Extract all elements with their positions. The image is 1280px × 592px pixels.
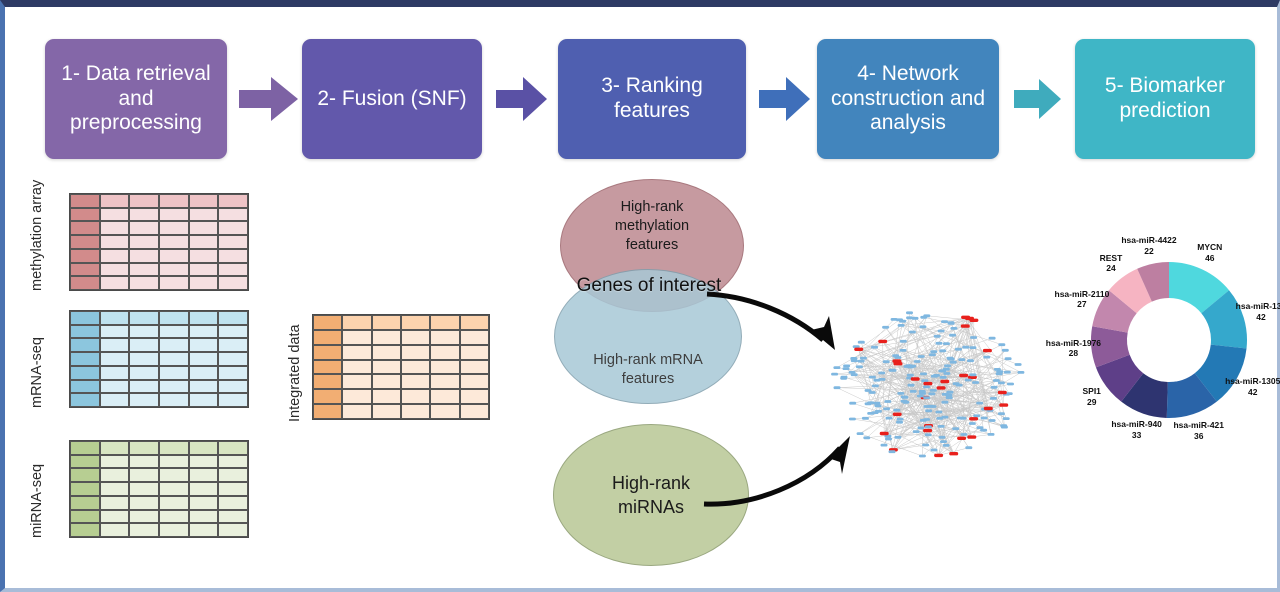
network-node — [955, 348, 962, 351]
network-node — [925, 409, 932, 412]
matrix-integrated-data-label: Integrated data — [287, 314, 303, 422]
network-node — [873, 402, 880, 405]
matrix-cell — [100, 221, 130, 235]
network-node — [925, 433, 932, 436]
matrix-cell — [70, 352, 100, 366]
network-node — [909, 331, 916, 334]
network-hub-node — [911, 377, 920, 380]
matrix-cell — [100, 338, 130, 352]
matrix-cell — [189, 523, 219, 537]
network-node — [893, 409, 900, 412]
matrix-cell — [70, 380, 100, 394]
network-node — [901, 400, 908, 403]
matrix-cell — [189, 311, 219, 325]
network-node — [930, 350, 937, 353]
matrix-cell — [100, 235, 130, 249]
network-node — [900, 349, 907, 352]
matrix-cell — [100, 441, 130, 455]
matrix-cell — [129, 393, 159, 407]
matrix-cell — [189, 393, 219, 407]
network-node — [948, 322, 955, 325]
matrix-cell — [129, 276, 159, 290]
network-node — [869, 376, 876, 379]
network-node — [994, 368, 1001, 371]
matrix-cell — [189, 380, 219, 394]
workflow-step-2-label: 2- Fusion (SNF) — [317, 87, 466, 112]
network-hub-node — [967, 435, 976, 438]
workflow-step-3-label: 3- Ranking features — [566, 74, 738, 124]
venn-circle-mrna-label: High-rank mRNA features — [593, 351, 703, 389]
network-hub-node — [949, 452, 958, 455]
network-node — [922, 444, 929, 447]
matrix-cell — [159, 221, 189, 235]
matrix-cell — [460, 374, 489, 389]
network-node — [940, 376, 947, 379]
matrix-cell — [189, 325, 219, 339]
matrix-cell — [129, 263, 159, 277]
network-node — [853, 345, 860, 348]
workflow-step-1[interactable]: 1- Data retrieval and preprocessing — [45, 39, 227, 159]
network-node — [933, 374, 940, 377]
matrix-cell — [342, 315, 371, 330]
matrix-cell — [100, 276, 130, 290]
matrix-cell — [129, 366, 159, 380]
network-node — [928, 392, 935, 395]
matrix-cell — [159, 194, 189, 208]
network-node — [886, 417, 893, 420]
matrix-cell — [430, 360, 459, 375]
network-node — [897, 418, 904, 421]
network-node — [913, 430, 920, 433]
network-node — [930, 449, 937, 452]
donut-chart-labels: MYCN46hsa-miR-13742hsa-miR-130542hsa-miR… — [1005, 237, 1280, 477]
donut-slice-label: hsa-miR-211027 — [1055, 289, 1110, 310]
matrix-cell — [129, 235, 159, 249]
network-node — [965, 446, 972, 449]
network-hub-node — [940, 380, 949, 383]
network-node — [988, 433, 995, 436]
donut-slice-name: hsa-miR-1976 — [1046, 338, 1101, 348]
donut-slice-label: MYCN46 — [1197, 242, 1222, 263]
matrix-cell — [100, 263, 130, 277]
workflow-arrow-1 — [237, 75, 301, 123]
matrix-cell — [401, 374, 430, 389]
matrix-cell — [189, 455, 219, 469]
network-node — [970, 373, 977, 376]
matrix-cell — [159, 496, 189, 510]
matrix-cell — [218, 352, 248, 366]
network-node — [998, 382, 1005, 385]
matrix-cell — [70, 208, 100, 222]
network-hub-node — [984, 407, 993, 410]
network-node — [976, 426, 983, 429]
matrix-cell — [218, 393, 248, 407]
donut-slice-label: hsa-miR-197628 — [1046, 338, 1101, 359]
network-hub-node — [934, 454, 943, 457]
donut-slice-value: 29 — [1087, 397, 1096, 407]
matrix-mirna-seq: miRNA-seq — [27, 440, 247, 540]
network-graph[interactable] — [823, 299, 1035, 471]
network-node — [857, 432, 864, 435]
matrix-cell — [129, 325, 159, 339]
matrix-cell — [100, 380, 130, 394]
matrix-cell — [159, 468, 189, 482]
network-graph-svg — [823, 299, 1035, 471]
donut-slice-name: hsa-miR-2110 — [1055, 289, 1110, 299]
matrix-cell — [372, 315, 401, 330]
network-node — [946, 396, 953, 399]
matrix-cell — [129, 482, 159, 496]
venn-circle-methylation-label: High-rank methylation features — [592, 198, 712, 255]
matrix-cell — [189, 468, 219, 482]
matrix-mrna-seq-grid — [69, 310, 249, 408]
network-node — [849, 418, 856, 421]
matrix-cell — [218, 325, 248, 339]
network-hub-node — [893, 413, 902, 416]
network-node — [989, 419, 996, 422]
matrix-cell — [70, 366, 100, 380]
matrix-cell — [401, 315, 430, 330]
network-node — [921, 379, 928, 382]
network-hub-node — [892, 359, 901, 362]
donut-slice-name: MYCN — [1197, 242, 1222, 252]
donut-slice-label: hsa-miR-442222 — [1121, 235, 1176, 256]
donut-slice-value: 27 — [1077, 299, 1086, 309]
network-hub-node — [983, 349, 992, 352]
matrix-cell — [218, 482, 248, 496]
donut-slice-value: 42 — [1248, 387, 1257, 397]
matrix-cell — [70, 325, 100, 339]
network-node — [920, 419, 927, 422]
matrix-cell — [70, 338, 100, 352]
matrix-integrated-data-grid — [312, 314, 490, 420]
matrix-cell — [129, 221, 159, 235]
network-node — [862, 417, 869, 420]
matrix-cell — [430, 389, 459, 404]
network-node — [849, 402, 856, 405]
matrix-cell — [218, 208, 248, 222]
matrix-cell — [218, 194, 248, 208]
matrix-cell — [70, 455, 100, 469]
matrix-cell — [129, 311, 159, 325]
matrix-cell — [460, 330, 489, 345]
network-node — [929, 353, 936, 356]
network-node — [834, 386, 841, 389]
network-node — [885, 438, 892, 441]
matrix-cell — [100, 366, 130, 380]
network-hub-node — [878, 340, 887, 343]
network-node — [871, 346, 878, 349]
network-hub-node — [937, 386, 946, 389]
matrix-mrna-seq: mRNA-seq — [27, 310, 247, 410]
network-node — [860, 357, 867, 360]
matrix-cell — [372, 374, 401, 389]
matrix-cell — [129, 249, 159, 263]
matrix-cell — [372, 345, 401, 360]
network-hub-node — [957, 437, 966, 440]
matrix-cell — [189, 249, 219, 263]
network-node — [996, 372, 1003, 375]
matrix-cell — [430, 330, 459, 345]
network-node — [972, 381, 979, 384]
network-node — [843, 365, 850, 368]
network-node — [894, 436, 901, 439]
workflow-arrow-3 — [757, 75, 813, 123]
network-node — [991, 386, 998, 389]
network-node — [943, 444, 950, 447]
matrix-cell — [70, 393, 100, 407]
network-node — [925, 425, 932, 428]
matrix-cell — [100, 393, 130, 407]
matrix-cell — [189, 276, 219, 290]
matrix-cell — [129, 352, 159, 366]
network-hub-node — [923, 429, 932, 432]
matrix-cell — [189, 482, 219, 496]
donut-slice-label: hsa-miR-42136 — [1173, 420, 1224, 441]
network-node — [930, 389, 937, 392]
matrix-cell — [189, 338, 219, 352]
matrix-cell — [129, 510, 159, 524]
network-node — [976, 402, 983, 405]
network-node — [869, 391, 876, 394]
matrix-cell — [342, 389, 371, 404]
donut-slice-value: 22 — [1144, 246, 1153, 256]
matrix-cell — [401, 330, 430, 345]
matrix-cell — [218, 510, 248, 524]
donut-slice-name: hsa-miR-421 — [1173, 420, 1224, 430]
network-node — [849, 371, 856, 374]
matrix-cell — [342, 345, 371, 360]
matrix-cell — [313, 345, 342, 360]
matrix-cell — [218, 235, 248, 249]
matrix-cell — [460, 360, 489, 375]
network-node — [923, 386, 930, 389]
network-node — [918, 355, 925, 358]
network-node — [990, 397, 997, 400]
matrix-cell — [100, 496, 130, 510]
network-node — [858, 360, 865, 363]
network-node — [863, 436, 870, 439]
matrix-cell — [218, 249, 248, 263]
network-node — [890, 369, 897, 372]
donut-slice-name: hsa-miR-4422 — [1121, 235, 1176, 245]
donut-slice-value: 24 — [1106, 263, 1115, 273]
matrix-cell — [159, 325, 189, 339]
matrix-cell — [313, 374, 342, 389]
network-node — [918, 427, 925, 430]
network-node — [998, 412, 1005, 415]
matrix-cell — [218, 311, 248, 325]
network-node — [901, 396, 908, 399]
network-node — [908, 384, 915, 387]
matrix-cell — [218, 523, 248, 537]
network-node — [881, 444, 888, 447]
network-node — [934, 335, 941, 338]
network-node — [896, 421, 903, 424]
matrix-cell — [401, 389, 430, 404]
matrix-methylation-array: methylation array — [27, 193, 247, 293]
network-node — [914, 360, 921, 363]
donut-slice-label: SPI129 — [1082, 386, 1100, 407]
network-node — [980, 429, 987, 432]
network-node — [969, 422, 976, 425]
matrix-methylation-array-grid — [69, 193, 249, 291]
network-node — [897, 392, 904, 395]
network-node — [831, 373, 838, 376]
figure-slide: 1- Data retrieval and preprocessing 2- F… — [0, 0, 1280, 592]
matrix-mirna-seq-grid — [69, 440, 249, 538]
matrix-cell — [401, 360, 430, 375]
matrix-cell — [70, 263, 100, 277]
matrix-cell — [100, 468, 130, 482]
network-node — [940, 440, 947, 443]
network-node — [923, 396, 930, 399]
network-node — [939, 436, 946, 439]
matrix-cell — [129, 468, 159, 482]
matrix-cell — [129, 496, 159, 510]
donut-slice-value: 33 — [1132, 430, 1141, 440]
network-hub-node — [969, 417, 978, 420]
matrix-cell — [159, 235, 189, 249]
network-node — [943, 372, 950, 375]
network-node — [900, 340, 907, 343]
matrix-mirna-seq-label: miRNA-seq — [29, 440, 45, 538]
matrix-cell — [159, 276, 189, 290]
matrix-cell — [372, 389, 401, 404]
matrix-cell — [460, 345, 489, 360]
matrix-cell — [159, 249, 189, 263]
matrix-cell — [159, 366, 189, 380]
network-node — [889, 450, 896, 453]
network-node — [840, 377, 847, 380]
network-node — [894, 356, 901, 359]
network-node — [939, 349, 946, 352]
matrix-cell — [159, 510, 189, 524]
network-node — [850, 357, 857, 360]
matrix-cell — [218, 380, 248, 394]
matrix-cell — [129, 338, 159, 352]
matrix-cell — [401, 404, 430, 419]
matrix-cell — [70, 441, 100, 455]
matrix-cell — [430, 345, 459, 360]
matrix-cell — [100, 194, 130, 208]
network-node — [949, 334, 956, 337]
matrix-cell — [189, 194, 219, 208]
matrix-cell — [70, 496, 100, 510]
matrix-cell — [129, 380, 159, 394]
matrix-cell — [218, 366, 248, 380]
matrix-cell — [342, 374, 371, 389]
matrix-cell — [100, 523, 130, 537]
network-node — [898, 324, 905, 327]
network-hub-node — [923, 382, 932, 385]
network-node — [952, 427, 959, 430]
matrix-cell — [313, 330, 342, 345]
network-node — [936, 417, 943, 420]
donut-slice-value: 36 — [1194, 431, 1203, 441]
network-node — [969, 346, 976, 349]
matrix-cell — [129, 208, 159, 222]
donut-slice-label: hsa-miR-94033 — [1111, 419, 1162, 440]
matrix-cell — [313, 389, 342, 404]
donut-slice-name: hsa-miR-940 — [1111, 419, 1162, 429]
network-node — [920, 373, 927, 376]
matrix-cell — [159, 441, 189, 455]
network-node — [883, 360, 890, 363]
matrix-cell — [189, 208, 219, 222]
matrix-cell — [460, 315, 489, 330]
workflow-step-4[interactable]: 4- Network construction and analysis — [817, 39, 999, 159]
network-node — [950, 327, 957, 330]
donut-slice-label: hsa-miR-130542 — [1225, 376, 1280, 397]
network-node — [919, 390, 926, 393]
network-node — [942, 393, 949, 396]
matrix-cell — [100, 455, 130, 469]
matrix-cell — [313, 404, 342, 419]
donut-slice-value: 42 — [1256, 312, 1265, 322]
workflow-step-5[interactable]: 5- Biomarker prediction — [1075, 39, 1255, 159]
network-node — [950, 361, 957, 364]
network-hub-node — [961, 324, 970, 327]
network-node — [917, 395, 924, 398]
matrix-cell — [460, 404, 489, 419]
matrix-cell — [159, 380, 189, 394]
network-hub-node — [880, 432, 889, 435]
network-node — [938, 370, 945, 373]
workflow-step-4-label: 4- Network construction and analysis — [825, 62, 991, 136]
matrix-cell — [159, 352, 189, 366]
matrix-cell — [430, 404, 459, 419]
figure-canvas: 1- Data retrieval and preprocessing 2- F… — [5, 7, 1277, 588]
matrix-cell — [189, 441, 219, 455]
matrix-cell — [70, 249, 100, 263]
circle-high-rank-mirnas-label: High-rank miRNAs — [586, 471, 716, 520]
donut-slice-name: REST — [1100, 253, 1123, 263]
matrix-cell — [129, 523, 159, 537]
network-node — [993, 379, 1000, 382]
network-node — [962, 346, 969, 349]
matrix-cell — [159, 263, 189, 277]
network-node — [989, 337, 996, 340]
workflow-arrow-4 — [1012, 77, 1064, 121]
matrix-cell — [218, 496, 248, 510]
network-node — [867, 412, 874, 415]
matrix-cell — [218, 455, 248, 469]
matrix-cell — [401, 345, 430, 360]
workflow-step-2[interactable]: 2- Fusion (SNF) — [302, 39, 482, 159]
network-node — [943, 342, 950, 345]
network-node — [956, 384, 963, 387]
matrix-cell — [100, 249, 130, 263]
matrix-cell — [70, 510, 100, 524]
network-node — [907, 366, 914, 369]
matrix-cell — [372, 360, 401, 375]
matrix-cell — [100, 208, 130, 222]
network-node — [936, 342, 943, 345]
network-node — [957, 417, 964, 420]
workflow-step-3[interactable]: 3- Ranking features — [558, 39, 746, 159]
matrix-cell — [100, 482, 130, 496]
workflow-step-5-label: 5- Biomarker prediction — [1083, 74, 1247, 124]
matrix-cell — [70, 311, 100, 325]
donut-slice-name: hsa-miR-1305 — [1225, 376, 1280, 386]
network-node — [965, 379, 972, 382]
network-node — [843, 367, 850, 370]
network-node — [941, 320, 948, 323]
matrix-cell — [218, 338, 248, 352]
matrix-cell — [372, 330, 401, 345]
network-node — [883, 407, 890, 410]
